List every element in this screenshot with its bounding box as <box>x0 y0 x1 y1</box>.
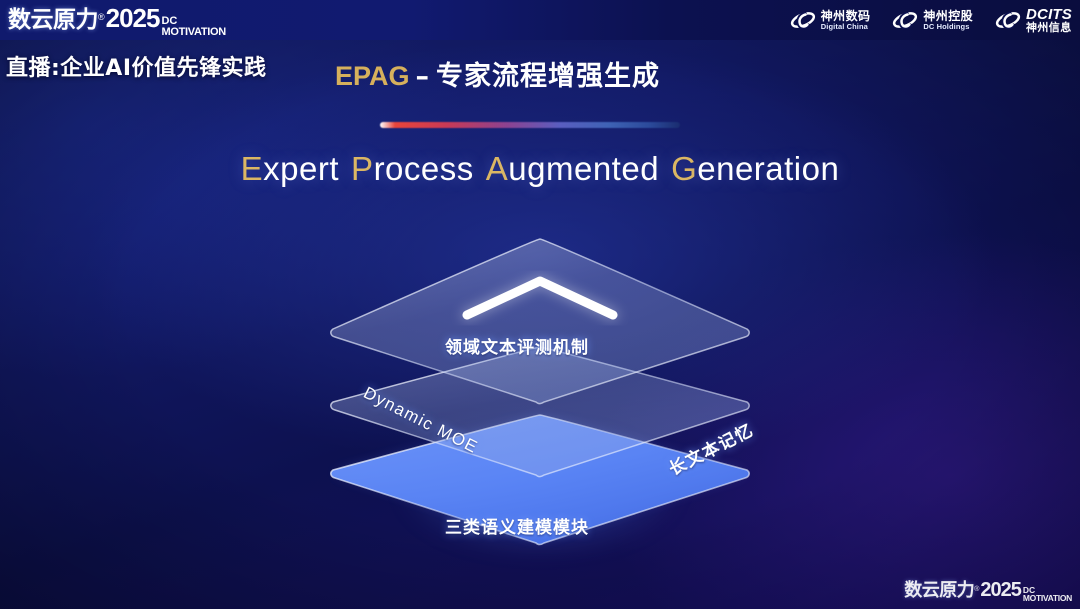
partner-name-cn: 神州控股 <box>923 10 973 22</box>
partner-name-en: DC Holdings <box>923 23 973 31</box>
brand-name-cn: 数云原力 <box>8 0 98 34</box>
slide-canvas: 数云原力 ® 2025 DC MOTIVATION 神州数码 <box>0 0 1080 609</box>
partner-logo-dcits: DCITS 神州信息 <box>995 7 1072 33</box>
partner-name-cn: 神州信息 <box>1026 22 1072 33</box>
subtitle-expansion: ExpertProcessAugmentedGeneration <box>0 150 1080 188</box>
watermark-registered-mark: ® <box>974 586 979 593</box>
brand-motivation-text: MOTIVATION <box>161 27 225 37</box>
layer-bottom-label: 三类语义建模模块 <box>445 513 589 538</box>
swoosh-icon <box>995 9 1021 31</box>
partner-label: DCITS 神州信息 <box>1026 7 1072 33</box>
partner-label: 神州数码 Digital China <box>821 10 871 31</box>
partner-name-cn: 神州数码 <box>821 10 871 22</box>
swoosh-icon <box>892 9 918 31</box>
brand-registered-mark: ® <box>98 12 105 22</box>
watermark-dc-motivation: DC MOTIVATION <box>1023 586 1072 602</box>
subtitle-word-expert: Expert <box>241 150 339 187</box>
subtitle-word-augmented: Augmented <box>486 150 659 187</box>
partner-logo-group: 神州数码 Digital China 神州控股 DC Holdings <box>790 7 1080 33</box>
layered-architecture-diagram: 领域文本评测机制 Dynamic MOE 长文本记忆 三类语义建模模块 <box>295 225 785 585</box>
page-title: EPAG–专家流程增强生成 <box>335 54 660 93</box>
title-acronym: EPAG <box>335 61 410 91</box>
title-chinese: 专家流程增强生成 <box>436 61 660 92</box>
watermark-name-cn: 数云原力 <box>904 576 974 602</box>
watermark-year: 2025 <box>980 579 1021 602</box>
swoosh-icon <box>790 9 816 31</box>
subtitle-word-process: Process <box>351 150 474 187</box>
subtitle-word-generation: Generation <box>671 150 839 187</box>
title-dash: – <box>410 61 437 92</box>
gradient-divider <box>380 122 680 128</box>
brand-watermark: 数云原力 ® 2025 DC MOTIVATION <box>904 576 1072 605</box>
watermark-motivation-text: MOTIVATION <box>1023 594 1072 602</box>
partner-logo-dc-holdings: 神州控股 DC Holdings <box>892 9 973 31</box>
brand-logo: 数云原力 ® 2025 DC MOTIVATION <box>0 0 226 40</box>
brand-dc-motivation: DC MOTIVATION <box>161 16 225 37</box>
partner-logo-digital-china: 神州数码 Digital China <box>790 9 871 31</box>
live-stream-title: 直播:企业AI价值先锋实践 <box>6 50 267 82</box>
partner-name-en: Digital China <box>821 23 871 31</box>
top-bar: 数云原力 ® 2025 DC MOTIVATION 神州数码 <box>0 0 1080 40</box>
brand-year: 2025 <box>106 3 160 34</box>
diagram-layer-top <box>331 239 749 404</box>
brand-dc-text: DC <box>161 16 225 26</box>
partner-name-en: DCITS <box>1026 7 1072 22</box>
partner-label: 神州控股 DC Holdings <box>923 10 973 31</box>
layer-top-label: 领域文本评测机制 <box>445 333 589 358</box>
